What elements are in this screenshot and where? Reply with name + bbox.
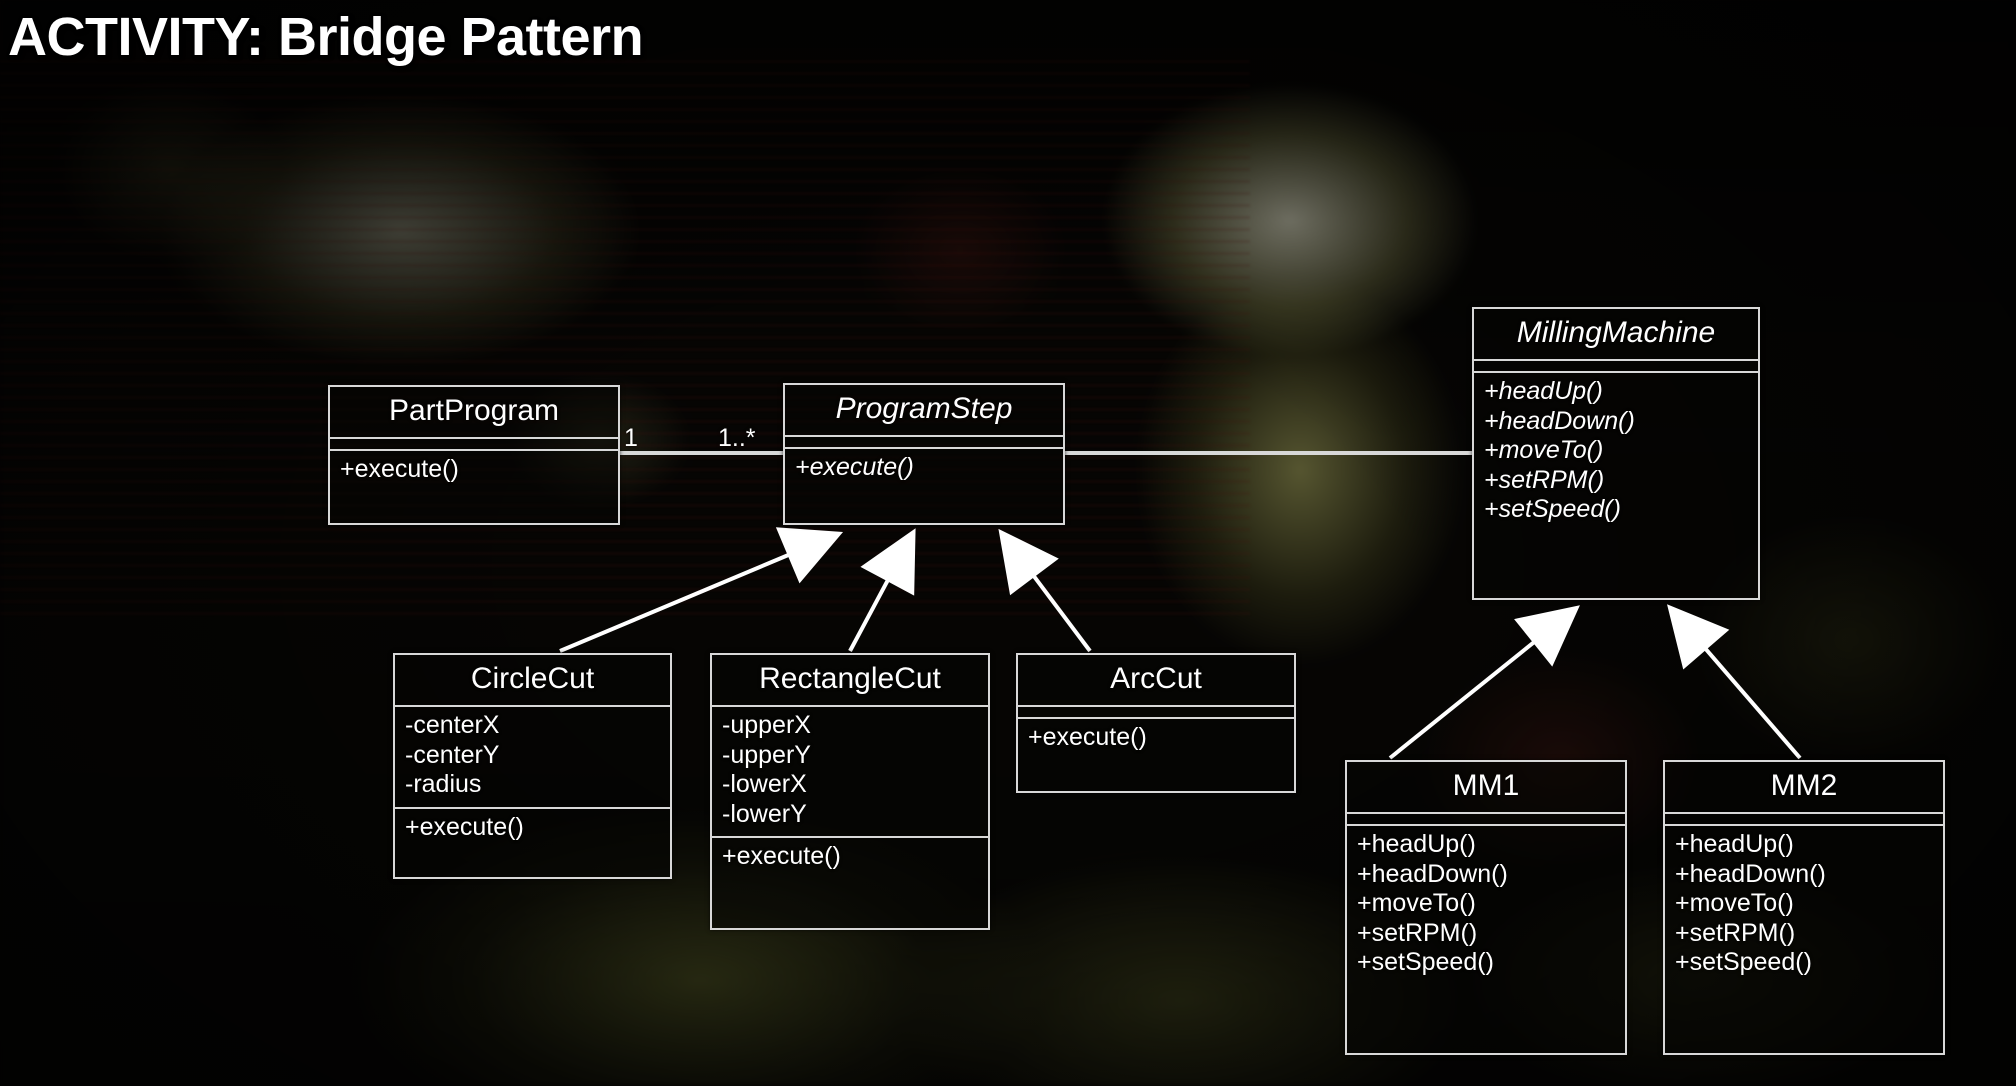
operations-compartment-program-step: +execute(): [785, 449, 1063, 490]
operations-compartment-milling-machine: +headUp()+headDown()+moveTo()+setRPM()+s…: [1474, 373, 1758, 532]
operations-compartment-rectangle-cut: +execute(): [712, 838, 988, 879]
attribute-row: -radius: [403, 770, 662, 800]
attributes-compartment-mm2: [1665, 814, 1943, 824]
attribute-row: -lowerX: [720, 770, 980, 800]
class-box-program-step[interactable]: ProgramStep+execute(): [783, 383, 1065, 525]
operation-row: +moveTo(): [1673, 889, 1935, 919]
operations-compartment-mm2: +headUp()+headDown()+moveTo()+setRPM()+s…: [1665, 826, 1943, 985]
attribute-row: -upperX: [720, 711, 980, 741]
operation-row: +execute(): [403, 813, 662, 843]
page-title: ACTIVITY: Bridge Pattern: [8, 6, 643, 68]
class-box-milling-machine[interactable]: MillingMachine+headUp()+headDown()+moveT…: [1472, 307, 1760, 600]
class-name-circle-cut: CircleCut: [395, 655, 670, 705]
operation-row: +headDown(): [1482, 407, 1750, 437]
operation-row: +headDown(): [1355, 860, 1617, 890]
class-box-rectangle-cut[interactable]: RectangleCut-upperX-upperY-lowerX-lowerY…: [710, 653, 990, 930]
class-box-part-program[interactable]: PartProgram+execute(): [328, 385, 620, 525]
operation-row: +moveTo(): [1482, 436, 1750, 466]
class-name-arc-cut: ArcCut: [1018, 655, 1294, 705]
operation-row: +execute(): [338, 455, 610, 485]
operations-compartment-mm1: +headUp()+headDown()+moveTo()+setRPM()+s…: [1347, 826, 1625, 985]
operation-row: +headUp(): [1482, 377, 1750, 407]
operation-row: +headUp(): [1673, 830, 1935, 860]
multiplicity-label-mult-one-star: 1..*: [718, 424, 756, 453]
attributes-compartment-milling-machine: [1474, 361, 1758, 371]
class-name-rectangle-cut: RectangleCut: [712, 655, 988, 705]
operation-row: +setRPM(): [1673, 919, 1935, 949]
operation-row: +setRPM(): [1355, 919, 1617, 949]
operations-compartment-arc-cut: +execute(): [1018, 719, 1294, 760]
class-name-mm1: MM1: [1347, 762, 1625, 812]
operation-row: +setSpeed(): [1673, 948, 1935, 978]
operation-row: +moveTo(): [1355, 889, 1617, 919]
operations-compartment-circle-cut: +execute(): [395, 809, 670, 850]
operation-row: +headUp(): [1355, 830, 1617, 860]
operation-row: +headDown(): [1673, 860, 1935, 890]
class-box-circle-cut[interactable]: CircleCut-centerX-centerY-radius+execute…: [393, 653, 672, 879]
attributes-compartment-part-program: [330, 439, 618, 449]
class-name-mm2: MM2: [1665, 762, 1943, 812]
attributes-compartment-mm1: [1347, 814, 1625, 824]
operations-compartment-part-program: +execute(): [330, 451, 618, 492]
class-name-milling-machine: MillingMachine: [1474, 309, 1758, 359]
attribute-row: -upperY: [720, 741, 980, 771]
attributes-compartment-circle-cut: -centerX-centerY-radius: [395, 707, 670, 807]
attributes-compartment-rectangle-cut: -upperX-upperY-lowerX-lowerY: [712, 707, 988, 836]
class-box-arc-cut[interactable]: ArcCut+execute(): [1016, 653, 1296, 793]
attributes-compartment-arc-cut: [1018, 707, 1294, 717]
attributes-compartment-program-step: [785, 437, 1063, 447]
operation-row: +execute(): [720, 842, 980, 872]
multiplicity-label-mult-one: 1: [624, 424, 638, 453]
class-name-program-step: ProgramStep: [785, 385, 1063, 435]
slide-canvas: ACTIVITY: Bridge Pattern PartProgram+exe…: [0, 0, 2016, 1086]
operation-row: +setSpeed(): [1482, 495, 1750, 525]
operation-row: +execute(): [1026, 723, 1286, 753]
operation-row: +execute(): [793, 453, 1055, 483]
operation-row: +setSpeed(): [1355, 948, 1617, 978]
attribute-row: -centerX: [403, 711, 662, 741]
class-name-part-program: PartProgram: [330, 387, 618, 437]
operation-row: +setRPM(): [1482, 466, 1750, 496]
attribute-row: -lowerY: [720, 800, 980, 830]
class-box-mm1[interactable]: MM1+headUp()+headDown()+moveTo()+setRPM(…: [1345, 760, 1627, 1055]
attribute-row: -centerY: [403, 741, 662, 771]
class-box-mm2[interactable]: MM2+headUp()+headDown()+moveTo()+setRPM(…: [1663, 760, 1945, 1055]
